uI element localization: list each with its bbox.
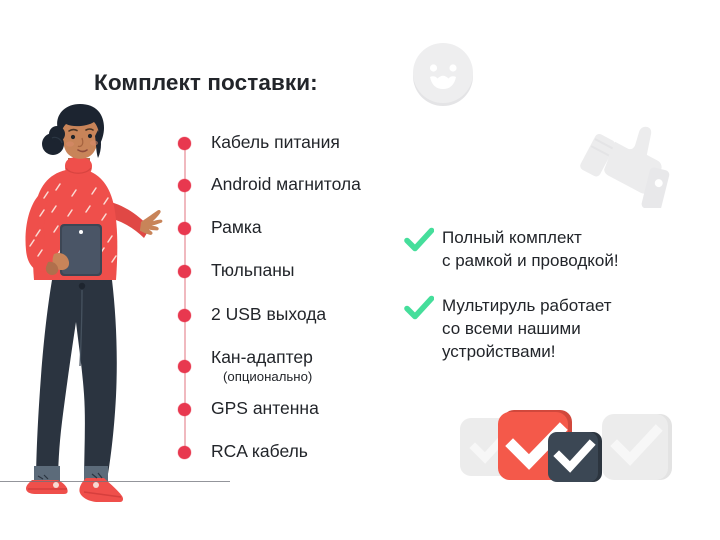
- benefits-list: Полный комплект с рамкой и проводкой! Му…: [404, 226, 694, 363]
- benefit-item: Полный комплект с рамкой и проводкой!: [404, 226, 694, 272]
- page-title: Комплект поставки:: [94, 70, 318, 96]
- list-item: Тюльпаны: [178, 260, 294, 280]
- list-item-label: Кан-адаптер: [211, 347, 313, 367]
- list-item: Кан-адаптер (опционально): [178, 347, 313, 384]
- list-item: Android магнитола: [178, 174, 361, 194]
- bullet-dot: [178, 222, 191, 235]
- thumbs-up-icon: [578, 112, 678, 208]
- bullet-dot: [178, 446, 191, 459]
- list-item: GPS антенна: [178, 398, 319, 418]
- bullet-dot: [178, 137, 191, 150]
- bullet-dot: [178, 360, 191, 373]
- woman-pointing-illustration: [8, 104, 178, 504]
- bullet-dot: [178, 179, 191, 192]
- list-item-label: Тюльпаны: [211, 260, 294, 280]
- list-item-label: GPS антенна: [211, 398, 319, 418]
- list-item-label: Кабель питания: [211, 132, 340, 152]
- ground-line: [0, 481, 230, 482]
- bullet-dot: [178, 265, 191, 278]
- benefit-label: Полный комплект с рамкой и проводкой!: [442, 226, 619, 272]
- list-item: Кабель питания: [178, 132, 340, 152]
- benefit-item: Мультируль работает со всеми нашими устр…: [404, 294, 694, 363]
- list-item: Рамка: [178, 217, 262, 237]
- avito-wordmark: Avito: [633, 501, 680, 522]
- checkbox-ticks-graphic: [458, 406, 673, 486]
- checkbox-gray-right: [602, 414, 672, 480]
- avito-watermark: Avito: [604, 496, 708, 524]
- list-item: RCA кабель: [178, 441, 308, 461]
- delivery-list: Кабель питания Android магнитола Рамка Т…: [178, 132, 398, 462]
- bullet-dot: [178, 403, 191, 416]
- benefit-label: Мультируль работает со всеми нашими устр…: [442, 294, 612, 363]
- list-item-label: Рамка: [211, 217, 262, 237]
- list-item: 2 USB выхода: [178, 304, 326, 324]
- slide-canvas: Комплект поставки:: [0, 0, 720, 540]
- list-item-label: RCA кабель: [211, 441, 308, 461]
- smiley-face-icon: [410, 41, 476, 107]
- green-check-icon: [404, 227, 434, 255]
- green-check-icon: [404, 295, 434, 323]
- checkbox-dark: [548, 432, 602, 482]
- list-item-sublabel: (опционально): [223, 369, 313, 384]
- bullet-dot: [178, 309, 191, 322]
- list-item-label: Android магнитола: [211, 174, 361, 194]
- list-item-label: 2 USB выхода: [211, 304, 326, 324]
